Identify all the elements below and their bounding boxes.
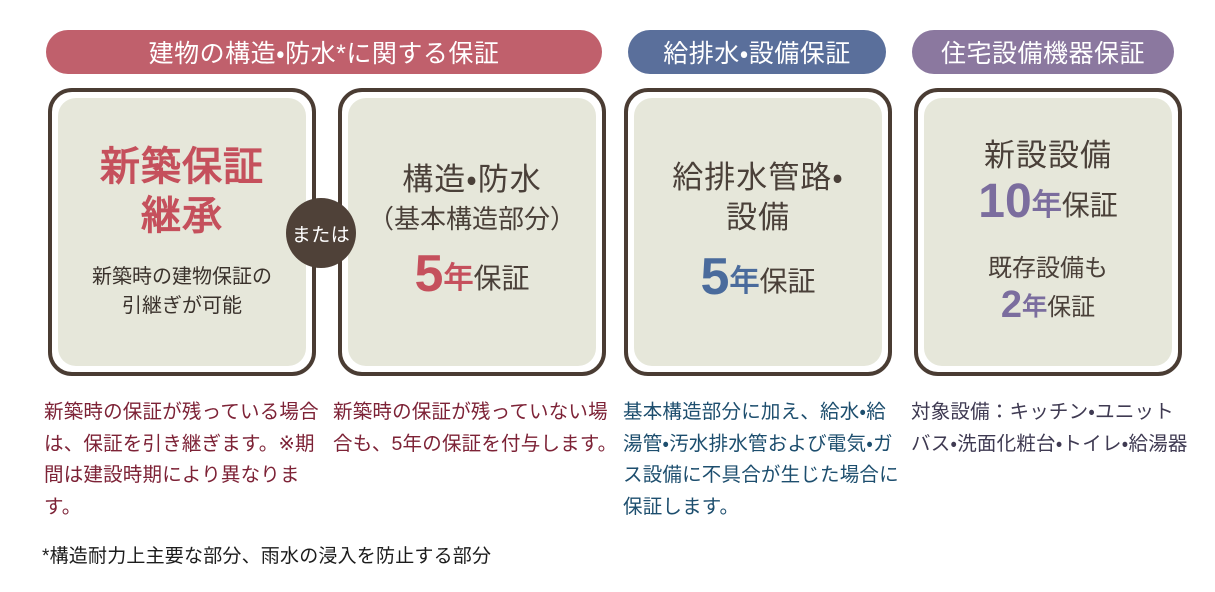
card-structure-waterproof-5yr: 構造・防水 （基本構造部分） 5年保証 xyxy=(338,88,606,376)
caption-succession: 新築時の保証が残っている場合は、保証を引き継ぎます。※期間は建設時期により異なり… xyxy=(44,397,332,523)
or-badge-label: または xyxy=(292,220,351,247)
footnote: *構造耐力上主要な部分、雨水の浸入を防止する部分 xyxy=(42,541,491,568)
card-new-equipment-10yr: 新設設備 10年保証 既存設備も 2年保証 xyxy=(914,88,1182,376)
card-inner: 構造・防水 （基本構造部分） 5年保証 xyxy=(348,98,596,366)
card-line3: 既存設備も xyxy=(988,255,1108,284)
caption-structure: 新築時の保証が残っていない場合も、5年の保証を付与します。 xyxy=(333,397,621,460)
caption-plumbing: 基本構造部分に加え、給水・給湯管・汚水排水管および電気・ガス設備に不具合が生じた… xyxy=(623,397,901,523)
card-inner: 給排水管路・ 設備 5年保証 xyxy=(634,98,882,366)
card-warranty-unit: 年 xyxy=(443,262,473,295)
card-warranty-suffix: 保証 xyxy=(759,266,815,297)
header-pill-plumbing-equipment: 給排水・設備保証 xyxy=(628,30,886,74)
header-pill-label: 住宅設備機器保証 xyxy=(941,34,1145,70)
card-inner: 新築保証 継承 新築時の建物保証の 引継ぎが可能 xyxy=(58,98,306,366)
card-warranty-number: 5 xyxy=(415,245,444,303)
header-pill-home-appliance: 住宅設備機器保証 xyxy=(912,30,1174,74)
card-line1: 新設設備 xyxy=(984,137,1112,174)
card-warranty-suffix: 保証 xyxy=(1062,190,1118,221)
card-headline-line2: 継承 xyxy=(100,192,264,241)
card-line1: 構造・防水 xyxy=(402,161,542,198)
header-pill-label: 建物の構造・防水*に関する保証 xyxy=(149,34,500,70)
or-badge: または xyxy=(286,198,356,268)
header-pill-label: 給排水・設備保証 xyxy=(663,34,851,70)
card-warranty-number: 5 xyxy=(701,248,730,306)
card-subtext: 新築時の建物保証の 引継ぎが可能 xyxy=(92,263,272,321)
card-water-piping-5yr: 給排水管路・ 設備 5年保証 xyxy=(624,88,892,376)
card-warranty-term: 5年保証 xyxy=(701,249,816,306)
card-subtext-line2: 引継ぎが可能 xyxy=(92,292,272,321)
card-warranty-number: 10 xyxy=(978,175,1031,228)
card-warranty-unit: 年 xyxy=(1032,189,1062,222)
card-line2: （基本構造部分） xyxy=(368,202,576,237)
card-warranty-unit-2: 年 xyxy=(1022,293,1047,321)
card-subtext-line1: 新築時の建物保証の xyxy=(92,263,272,292)
card-new-build-warranty-succession: 新築保証 継承 新築時の建物保証の 引継ぎが可能 xyxy=(48,88,316,376)
card-line1: 給排水管路・ xyxy=(672,158,844,198)
header-pill-structure-waterproof: 建物の構造・防水*に関する保証 xyxy=(46,30,602,74)
card-warranty-number-2: 2 xyxy=(1001,284,1022,326)
card-warranty-suffix-2: 保証 xyxy=(1047,294,1095,321)
infographic-root: 建物の構造・防水*に関する保証 給排水・設備保証 住宅設備機器保証 新築保証 継… xyxy=(0,0,1215,592)
card-inner: 新設設備 10年保証 既存設備も 2年保証 xyxy=(924,98,1172,366)
card-warranty-term: 5年保証 xyxy=(415,246,530,303)
card-warranty-term-secondary: 2年保証 xyxy=(1001,285,1095,327)
card-warranty-term-primary: 10年保証 xyxy=(978,176,1117,229)
card-headline: 新築保証 継承 xyxy=(100,143,264,241)
card-warranty-suffix: 保証 xyxy=(473,263,529,294)
caption-appliance: 対象設備：キッチン・ユニットバス・洗面化粧台・トイレ・給湯器 xyxy=(911,397,1189,460)
card-headline-line1: 新築保証 xyxy=(100,143,264,192)
card-line2: 設備 xyxy=(726,198,790,238)
card-warranty-unit: 年 xyxy=(729,265,759,298)
